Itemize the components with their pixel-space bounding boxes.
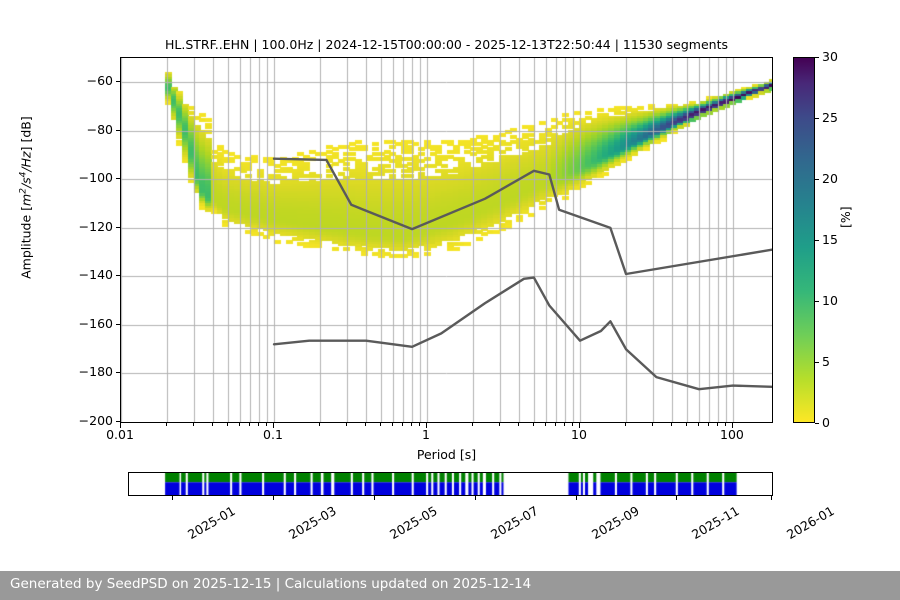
- x-minor-tick: [402, 423, 403, 426]
- x-minor-tick: [698, 423, 699, 426]
- x-minor-tick: [239, 423, 240, 426]
- x-minor-tick: [258, 423, 259, 426]
- colorbar-tick-mark: [815, 179, 819, 180]
- timeline-tick-label: 2025-07: [488, 503, 541, 542]
- x-minor-tick: [564, 423, 565, 426]
- colorbar-tick-label: 10: [822, 293, 838, 308]
- noise-model-curves: [121, 58, 772, 422]
- colorbar-tick-mark: [815, 362, 819, 363]
- x-minor-tick: [572, 423, 573, 426]
- timeline-tick-label: 2025-05: [387, 503, 440, 542]
- y-tick-label: −60: [87, 73, 113, 88]
- colorbar: [793, 57, 815, 423]
- x-minor-tick: [346, 423, 347, 426]
- x-minor-tick: [411, 423, 412, 426]
- x-minor-tick: [380, 423, 381, 426]
- psd-figure: HL.STRF..EHN | 100.0Hz | 2024-12-15T00:0…: [0, 0, 900, 600]
- colorbar-tick-label: 20: [822, 171, 838, 186]
- y-tick-label: −180: [79, 364, 113, 379]
- x-minor-tick: [227, 423, 228, 426]
- y-tick-label: −80: [87, 122, 113, 137]
- y-tick-mark: [116, 227, 121, 228]
- colorbar-tick-mark: [815, 57, 819, 58]
- x-minor-tick: [708, 423, 709, 426]
- y-tick-label: −200: [79, 413, 113, 428]
- timeline-tick-label: 2025-09: [589, 503, 642, 542]
- colorbar-tick-mark: [815, 118, 819, 119]
- timeline-tick-mark: [771, 496, 772, 500]
- x-minor-tick: [717, 423, 718, 426]
- y-tick-label: −160: [79, 316, 113, 331]
- colorbar-tick-label: 25: [822, 110, 838, 125]
- y-tick-mark: [116, 130, 121, 131]
- x-minor-tick: [249, 423, 250, 426]
- y-axis-ticks: −60−80−100−120−140−160−180−200: [0, 0, 113, 600]
- colorbar-unit-label: [%]: [838, 206, 853, 228]
- timeline-tick-label: 2025-03: [286, 503, 339, 542]
- x-minor-tick: [555, 423, 556, 426]
- x-tick-mark: [120, 423, 121, 428]
- data-availability-timeline[interactable]: [128, 472, 773, 496]
- y-tick-label: −140: [79, 267, 113, 282]
- x-minor-tick: [671, 423, 672, 426]
- x-tick-mark: [579, 423, 580, 428]
- x-tick-label: 10: [571, 427, 587, 442]
- x-minor-tick: [419, 423, 420, 426]
- x-tick-label: 1: [422, 427, 430, 442]
- y-tick-mark: [116, 275, 121, 276]
- timeline-tick-label: 2025-11: [689, 503, 742, 542]
- x-minor-tick: [686, 423, 687, 426]
- timeline-tick-mark: [273, 496, 274, 500]
- x-axis-label: Period [s]: [120, 447, 773, 462]
- page-title: HL.STRF..EHN | 100.0Hz | 2024-12-15T00:0…: [120, 37, 773, 52]
- colorbar-tick-label: 15: [822, 232, 838, 247]
- x-minor-tick: [266, 423, 267, 426]
- x-minor-tick: [193, 423, 194, 426]
- colorbar-gradient: [793, 57, 815, 423]
- timeline-tick-mark: [676, 496, 677, 500]
- colorbar-tick-label: 5: [822, 354, 830, 369]
- colorbar-tick-mark: [815, 240, 819, 241]
- x-tick-label: 0.1: [263, 427, 283, 442]
- x-minor-tick: [725, 423, 726, 426]
- colorbar-tick-label: 30: [822, 49, 838, 64]
- timeline-tick-label: 2025-01: [185, 503, 238, 542]
- x-tick-label: 100: [720, 427, 744, 442]
- timeline-tick-mark: [374, 496, 375, 500]
- x-minor-tick: [625, 423, 626, 426]
- timeline-tick-mark: [475, 496, 476, 500]
- y-tick-label: −100: [79, 170, 113, 185]
- x-minor-tick: [392, 423, 393, 426]
- noise-model-curve-nlnm: [274, 278, 772, 390]
- x-minor-tick: [166, 423, 167, 426]
- y-tick-mark: [116, 421, 121, 422]
- x-tick-mark: [732, 423, 733, 428]
- x-minor-tick: [319, 423, 320, 426]
- y-tick-mark: [116, 81, 121, 82]
- colorbar-tick-label: 0: [822, 415, 830, 430]
- x-tick-mark: [426, 423, 427, 428]
- psd-plot-area[interactable]: [120, 57, 773, 423]
- x-minor-tick: [545, 423, 546, 426]
- x-minor-tick: [652, 423, 653, 426]
- y-tick-mark: [116, 372, 121, 373]
- x-minor-tick: [518, 423, 519, 426]
- footer-text: Generated by SeedPSD on 2025-12-15 | Cal…: [10, 576, 531, 592]
- x-minor-tick: [533, 423, 534, 426]
- timeline-tick-mark: [172, 496, 173, 500]
- x-minor-tick: [472, 423, 473, 426]
- footer-bar: Generated by SeedPSD on 2025-12-15 | Cal…: [0, 571, 900, 600]
- x-tick-mark: [273, 423, 274, 428]
- noise-model-curve-nhnm: [274, 159, 772, 274]
- colorbar-tick-mark: [815, 423, 819, 424]
- timeline-tick-mark: [576, 496, 577, 500]
- timeline-tick-label: 2026-01: [784, 503, 837, 542]
- y-tick-mark: [116, 324, 121, 325]
- y-tick-label: −120: [79, 219, 113, 234]
- colorbar-tick-mark: [815, 301, 819, 302]
- x-tick-label: 0.01: [106, 427, 134, 442]
- x-minor-tick: [212, 423, 213, 426]
- x-minor-tick: [499, 423, 500, 426]
- timeline-coverage-bars: [129, 473, 772, 495]
- y-tick-mark: [116, 178, 121, 179]
- x-minor-tick: [365, 423, 366, 426]
